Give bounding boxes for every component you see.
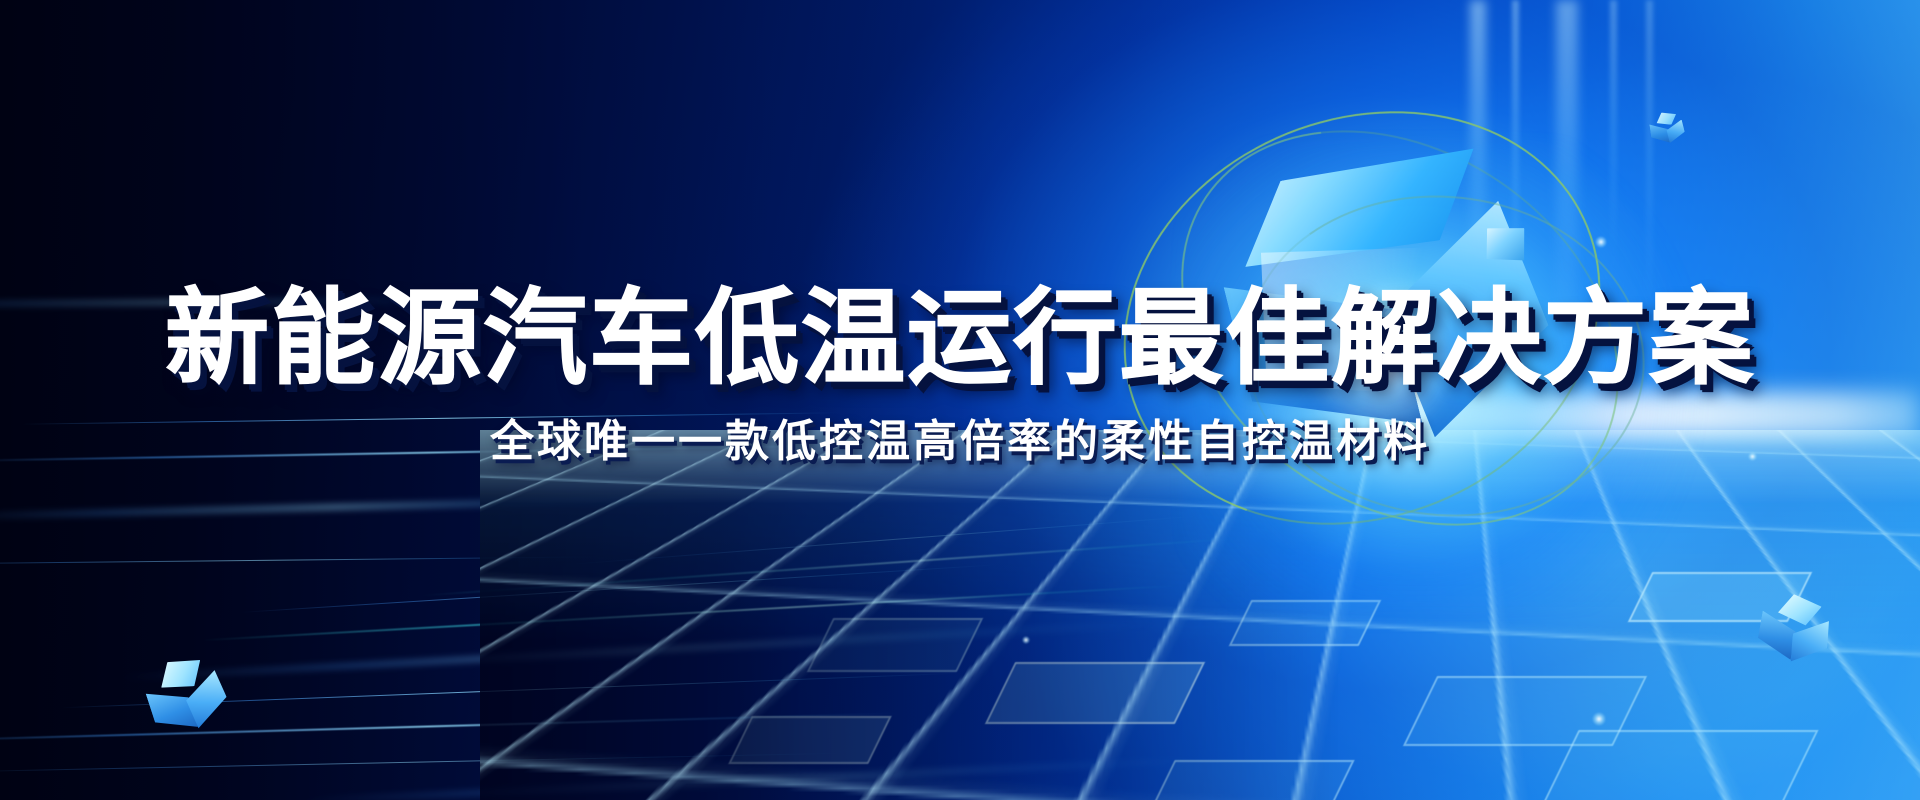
promo-banner: 新能源汽车低温运行最佳解决方案 全球唯一一款低控温高倍率的柔性自控温材料 <box>0 0 1920 800</box>
cube-top-face <box>1777 592 1823 627</box>
floating-cube-icon <box>1648 110 1686 146</box>
banner-copy: 新能源汽车低温运行最佳解决方案 全球唯一一款低控温高倍率的柔性自控温材料 <box>0 286 1920 466</box>
sparkle-icon <box>1595 236 1607 248</box>
page-subtitle: 全球唯一一款低控温高倍率的柔性自控温材料 <box>0 418 1920 466</box>
sparkle-icon <box>1022 636 1030 644</box>
cube-top-face <box>1655 111 1677 127</box>
sparkle-icon <box>1592 712 1606 726</box>
floating-cube-icon <box>1755 589 1836 668</box>
page-title: 新能源汽车低温运行最佳解决方案 <box>0 286 1920 392</box>
